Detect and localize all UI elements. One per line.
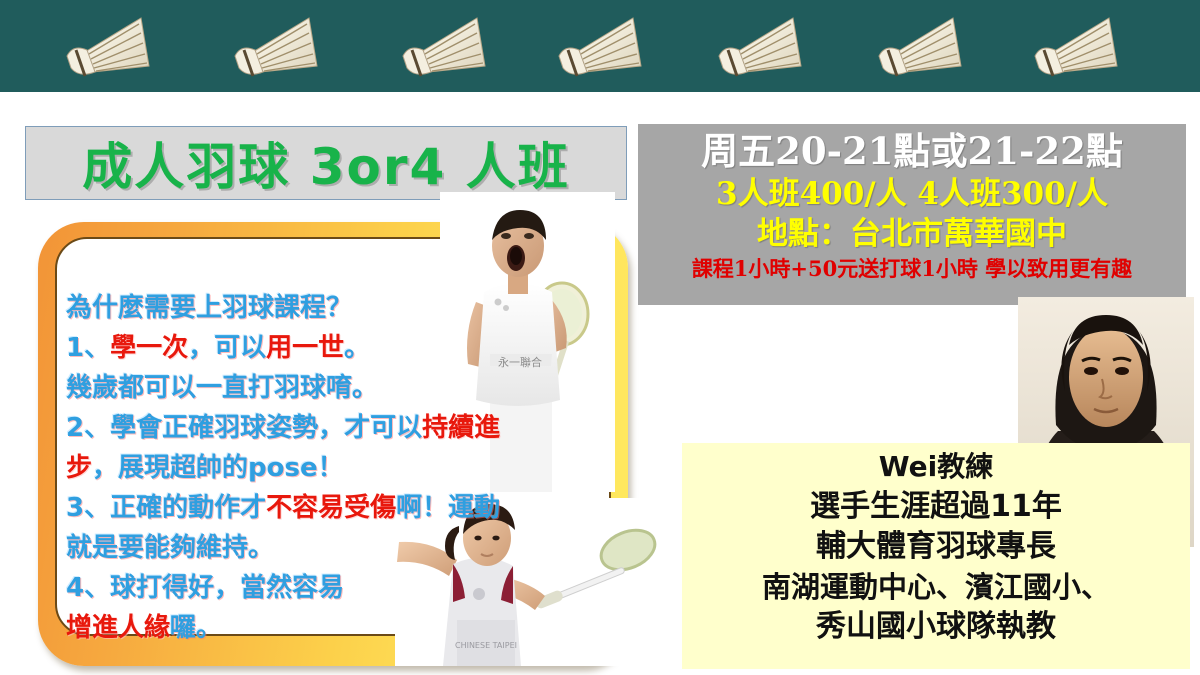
body-text-line: 幾歲都可以一直打羽球唷。 bbox=[66, 368, 606, 408]
plain-text: 1、 bbox=[66, 333, 110, 363]
highlighted-text: 用一世 bbox=[266, 333, 344, 363]
body-text-line: 就是要能夠維持。 bbox=[66, 528, 606, 568]
shuttlecock-icon bbox=[1028, 14, 1124, 80]
coach-info-line: 南湖運動中心、濱江國小、 bbox=[682, 567, 1190, 607]
highlighted-text: 持續進 bbox=[422, 413, 500, 443]
coach-info-line: 輔大體育羽球專長 bbox=[682, 527, 1190, 567]
class-info-box: 周五20-21點或21-22點 3人班400/人 4人班300/人 地點：台北市… bbox=[638, 124, 1186, 305]
plain-text: 為什麼需要上羽球課程？ bbox=[66, 293, 352, 323]
plain-text: ，展現超帥的pose！ bbox=[92, 453, 344, 483]
plain-text: 就是要能夠維持。 bbox=[66, 533, 274, 563]
location-text: 地點：台北市萬華國中 bbox=[638, 214, 1186, 254]
plain-text: 幾歲都可以一直打羽球唷。 bbox=[66, 373, 378, 403]
plain-text: 。 bbox=[344, 333, 370, 363]
shuttlecock-icon bbox=[396, 14, 492, 80]
coach-info-text: Wei教練選手生涯超過11年輔大體育羽球專長南湖運動中心、濱江國小、秀山國小球隊… bbox=[682, 447, 1190, 647]
poster-canvas: 成人羽球 3or4 人班 周五20-21點或21-22點 3人班400/人 4人… bbox=[0, 0, 1200, 675]
shuttlecock-icon bbox=[60, 14, 156, 80]
highlighted-text: 增進人緣 bbox=[66, 613, 170, 643]
shuttlecock-icon bbox=[228, 14, 324, 80]
shuttlecock-icon bbox=[552, 14, 648, 80]
plain-text: 啊！運動 bbox=[396, 493, 500, 523]
coach-info-line: 秀山國小球隊執教 bbox=[682, 607, 1190, 647]
page-title: 成人羽球 3or4 人班 bbox=[82, 127, 569, 199]
body-text-line: 為什麼需要上羽球課程？ bbox=[66, 288, 606, 328]
highlighted-text: 不容易受傷 bbox=[266, 493, 396, 523]
highlighted-text: 學一次 bbox=[110, 333, 188, 363]
plain-text: 4、球打得好，當然容易 bbox=[66, 573, 344, 603]
shuttlecock-row bbox=[0, 0, 1200, 92]
shuttlecock-icon bbox=[872, 14, 968, 80]
header-band bbox=[0, 0, 1200, 92]
pricing-text: 3人班400/人 4人班300/人 bbox=[638, 174, 1186, 214]
highlighted-text: 步 bbox=[66, 453, 92, 483]
plain-text: 囉。 bbox=[170, 613, 222, 643]
plain-text: ，可以 bbox=[188, 333, 266, 363]
body-text-line: 步，展現超帥的pose！ bbox=[66, 448, 606, 488]
title-box: 成人羽球 3or4 人班 bbox=[25, 126, 627, 200]
body-text-line: 增進人緣囉。 bbox=[66, 608, 606, 648]
coach-info-line: 選手生涯超過11年 bbox=[682, 487, 1190, 527]
plain-text: 3、正確的動作才 bbox=[66, 493, 266, 523]
coach-info-line: Wei教練 bbox=[682, 447, 1190, 487]
body-text-line: 3、正確的動作才不容易受傷啊！運動 bbox=[66, 488, 606, 528]
shuttlecock-icon bbox=[712, 14, 808, 80]
promo-note-text: 課程1小時+50元送打球1小時 學以致用更有趣 bbox=[638, 254, 1186, 284]
body-text-block: 為什麼需要上羽球課程？1、學一次，可以用一世。幾歲都可以一直打羽球唷。2、學會正… bbox=[66, 288, 606, 648]
body-text-line: 4、球打得好，當然容易 bbox=[66, 568, 606, 608]
body-text-line: 2、學會正確羽球姿勢，才可以持續進 bbox=[66, 408, 606, 448]
schedule-text: 周五20-21點或21-22點 bbox=[638, 128, 1186, 174]
body-text-line: 1、學一次，可以用一世。 bbox=[66, 328, 606, 368]
plain-text: 2、學會正確羽球姿勢，才可以 bbox=[66, 413, 422, 443]
